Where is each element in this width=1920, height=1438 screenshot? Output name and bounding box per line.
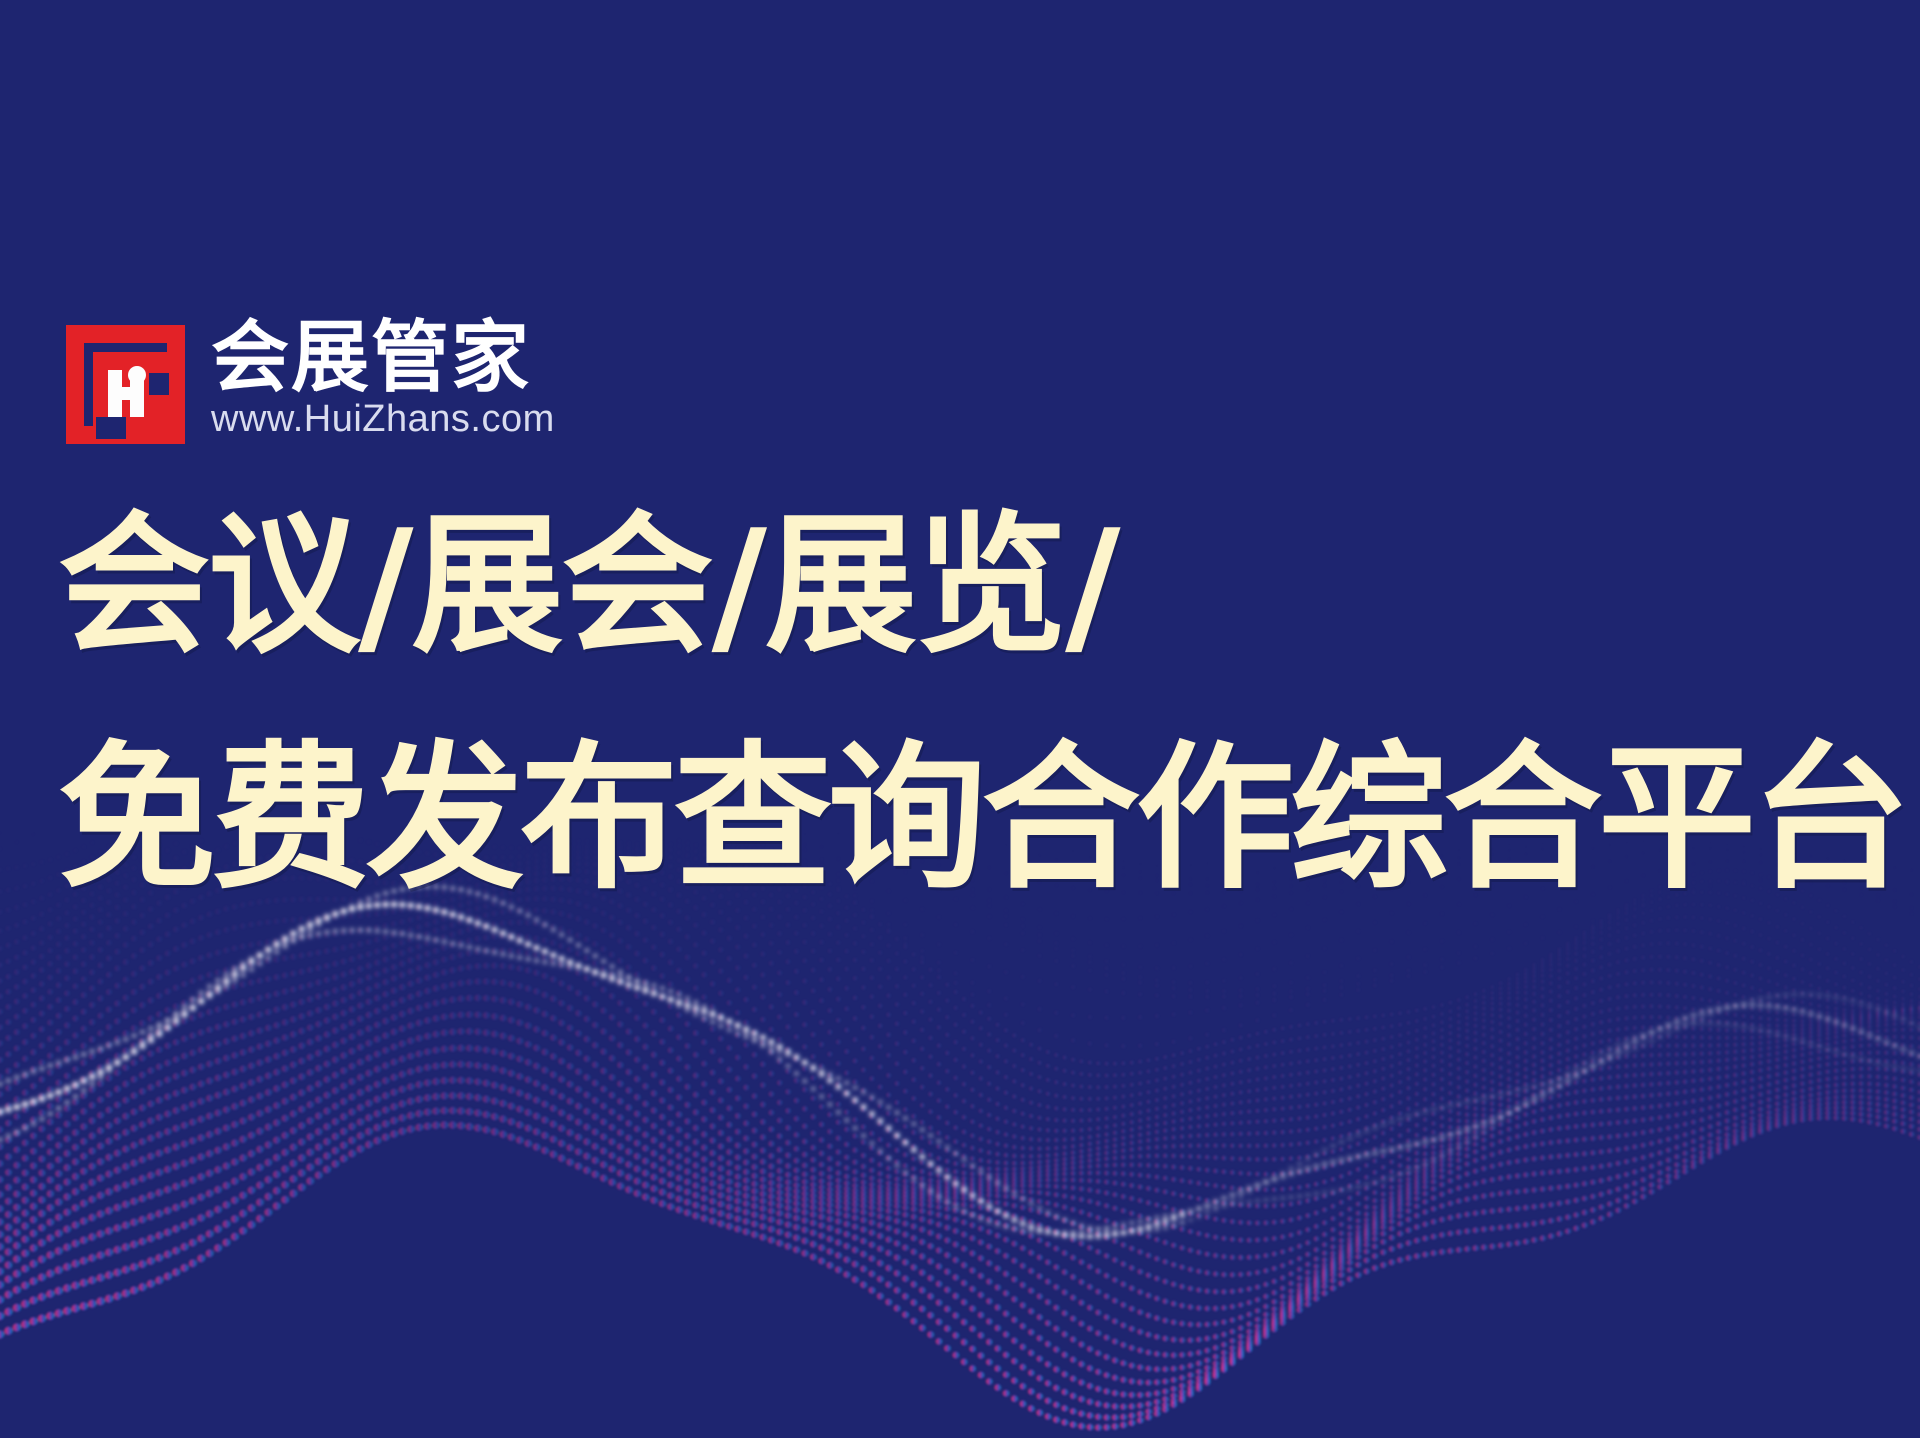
headline: 会议/展会/展览/ 免费发布查询合作综合平台 bbox=[58, 510, 1878, 898]
huizhans-hi-monogram-icon bbox=[66, 325, 185, 444]
brand-name: 会展管家 bbox=[211, 320, 555, 395]
poster-canvas: 会展管家 www.HuiZhans.com 会议/展会/展览/ 免费发布查询合作… bbox=[0, 0, 1920, 1438]
headline-line-1: 会议/展会/展览/ bbox=[58, 510, 1878, 662]
headline-line-2: 免费发布查询合作综合平台 bbox=[58, 740, 1878, 898]
brand-url: www.HuiZhans.com bbox=[211, 399, 555, 441]
brand-logo[interactable]: 会展管家 www.HuiZhans.com bbox=[66, 320, 555, 444]
